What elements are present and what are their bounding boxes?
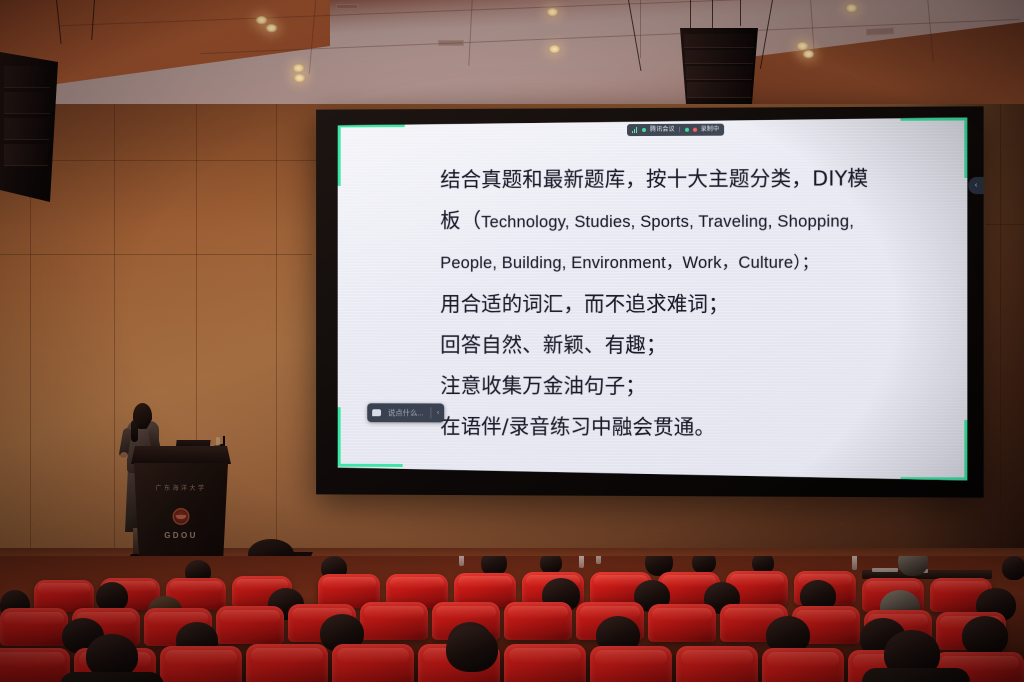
slide-line-7: 在语伴/录音练习中融会贯通。 — [440, 406, 941, 449]
speaker-module — [687, 82, 751, 98]
university-crest-icon — [173, 508, 190, 525]
led-display: 结合真题和最新题库，按十大主题分类，DIY模 板（Technology, Stu… — [316, 106, 984, 497]
ceiling-downlight — [255, 16, 268, 25]
audience-head — [962, 616, 1008, 656]
podium: 广东海洋大学 GDOU — [131, 446, 231, 568]
slide-line-5: 回答自然、新颖、有趣； — [440, 325, 941, 367]
water-bottle — [852, 556, 857, 570]
podium-university-name-zh: 广东海洋大学 — [134, 483, 228, 492]
seat — [0, 648, 70, 682]
seat — [216, 606, 284, 644]
seat — [762, 648, 844, 682]
audience-head — [1002, 556, 1024, 580]
share-border-bottom-right — [964, 420, 967, 481]
speaker-module — [4, 144, 48, 166]
pill-divider: | — [679, 124, 681, 136]
slide-content: 结合真题和最新题库，按十大主题分类，DIY模 板（Technology, Stu… — [440, 158, 941, 449]
auditorium-photo: 结合真题和最新题库，按十大主题分类，DIY模 板（Technology, Stu… — [0, 0, 1024, 682]
chat-bubble-icon — [367, 403, 386, 422]
rigging-wire — [740, 0, 741, 26]
meeting-status-pill[interactable]: 腾讯会议 | 录制中 — [627, 124, 724, 136]
podium-front-panel: 广东海洋大学 GDOU — [134, 463, 228, 563]
water-bottle — [596, 556, 601, 564]
water-bottle — [579, 556, 584, 568]
shared-screen[interactable]: 结合真题和最新题库，按十大主题分类，DIY模 板（Technology, Stu… — [338, 117, 968, 480]
chevron-left-icon[interactable]: ‹ — [432, 409, 445, 416]
chat-input-placeholder[interactable]: 说点什么... — [386, 407, 431, 418]
share-border-top-left — [338, 124, 405, 127]
slide-line-2: 板（Technology, Studies, Sports, Traveling… — [440, 199, 941, 243]
speaker-module — [686, 66, 752, 80]
seat — [590, 646, 672, 682]
share-border-top-left — [338, 124, 341, 186]
audience-head — [446, 626, 498, 672]
speaker-module — [4, 92, 50, 114]
presenter-hand — [120, 452, 128, 460]
wall-panel-seam — [114, 104, 115, 556]
ceiling-vent — [336, 4, 358, 9]
audience-seating — [0, 556, 1024, 682]
ceiling-downlight — [548, 45, 561, 54]
recording-label: 录制中 — [701, 124, 720, 136]
speaker-module — [4, 118, 49, 140]
share-border-bottom-left — [338, 464, 403, 467]
ceiling-seam — [640, 0, 641, 58]
ceiling-vent — [438, 40, 464, 46]
share-border-bottom-right — [900, 477, 967, 480]
podium-top — [131, 446, 231, 464]
slide-line-6: 注意收集万金油句子； — [440, 366, 941, 408]
desk-paper — [872, 568, 898, 572]
seat — [504, 644, 586, 682]
share-border-top-right — [964, 117, 967, 178]
network-status-dot — [685, 128, 689, 132]
speaker-module — [4, 66, 50, 88]
seat — [246, 644, 328, 682]
speaker-module — [685, 50, 753, 64]
share-border-bottom-left — [338, 407, 341, 467]
meeting-app-name: 腾讯会议 — [650, 124, 675, 136]
panel-collapse-tab[interactable]: ‹ — [968, 177, 983, 194]
ceiling-downlight — [802, 50, 815, 59]
meeting-chat-bar[interactable]: 说点什么... ‹ — [367, 403, 444, 422]
seat — [0, 608, 68, 646]
recording-dot — [693, 128, 697, 132]
seat — [504, 602, 572, 640]
wall-panel-seam — [276, 104, 277, 556]
ceiling-downlight — [293, 74, 306, 83]
share-border-top-right — [900, 117, 967, 120]
signal-bars-icon — [632, 127, 638, 133]
slide-line-2-zh: 板（ — [440, 208, 481, 232]
seat — [332, 644, 414, 682]
audience-shoulders — [862, 668, 970, 682]
ceiling — [0, 0, 1024, 112]
ceiling-downlight — [546, 8, 559, 17]
slide-line-4: 用合适的词汇，而不追求难词； — [440, 284, 941, 325]
wall-panel-seam — [0, 254, 312, 255]
ceiling-downlight — [265, 24, 278, 33]
water-bottle — [459, 556, 464, 566]
rigging-wire — [690, 0, 691, 30]
network-status-dot — [642, 128, 646, 132]
seat — [160, 646, 242, 682]
seat — [360, 602, 428, 640]
slide-line-3: People, Building, Environment，Work，Cultu… — [440, 243, 941, 285]
seat — [676, 646, 758, 682]
ceiling-downlight — [845, 4, 858, 13]
podium-university-abbr: GDOU — [134, 531, 228, 540]
seat — [648, 604, 716, 642]
slide-line-1: 结合真题和最新题库，按十大主题分类，DIY模 — [440, 158, 941, 201]
audience-shoulders — [60, 672, 164, 682]
ceiling-downlight — [292, 64, 305, 73]
speaker-module — [684, 34, 754, 48]
slide-line-2-en: Technology, Studies, Sports, Traveling, … — [481, 213, 854, 232]
ceiling-vent — [866, 27, 894, 35]
